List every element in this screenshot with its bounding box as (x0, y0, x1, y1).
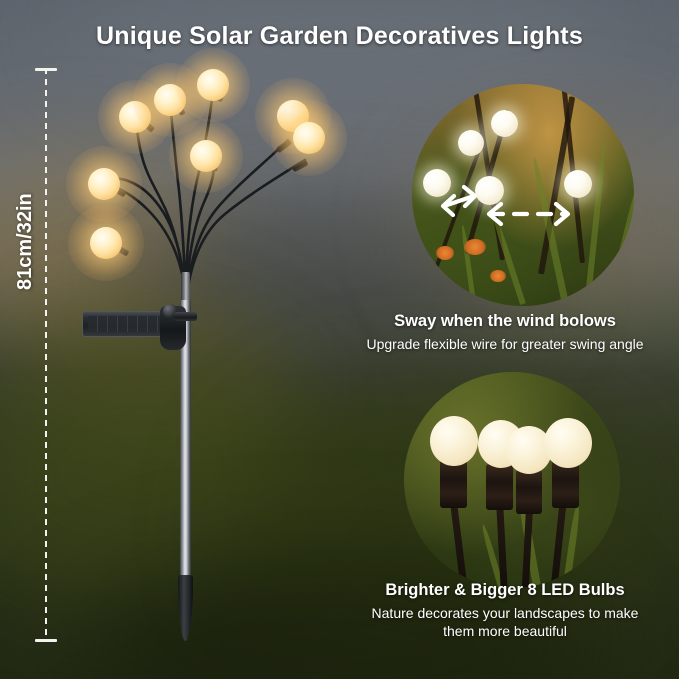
bulb-socket (486, 464, 513, 510)
product-feature-poster: Unique Solar Garden Decoratives Lights 8… (0, 0, 679, 679)
caption-subtext: Nature decorates your landscapes to make… (355, 604, 655, 641)
caption-subtext: Upgrade flexible wire for greater swing … (335, 335, 675, 353)
bulb (190, 140, 222, 172)
sway-arrow-annotations (412, 84, 634, 306)
bulb (197, 69, 229, 101)
bulb (293, 122, 325, 154)
feature-image-bulbs (404, 372, 620, 588)
pole-collar (174, 312, 197, 321)
bulb-socket (440, 460, 467, 508)
caption-heading: Brighter & Bigger 8 LED Bulbs (335, 581, 675, 600)
product-illustration (0, 0, 380, 679)
bulb (88, 168, 120, 200)
bulb (154, 84, 186, 116)
led-bulb (544, 418, 592, 468)
bulb (119, 101, 151, 133)
feature-image-sway (412, 84, 634, 306)
bulb-socket (516, 470, 542, 514)
solar-cell-grid (88, 316, 168, 332)
caption-heading: Sway when the wind bolows (335, 312, 675, 331)
feature-caption-bulbs: Brighter & Bigger 8 LED Bulbs Nature dec… (335, 581, 675, 641)
feature-caption-sway: Sway when the wind bolows Upgrade flexib… (335, 312, 675, 353)
bulb (90, 227, 122, 259)
led-bulb (430, 416, 478, 466)
